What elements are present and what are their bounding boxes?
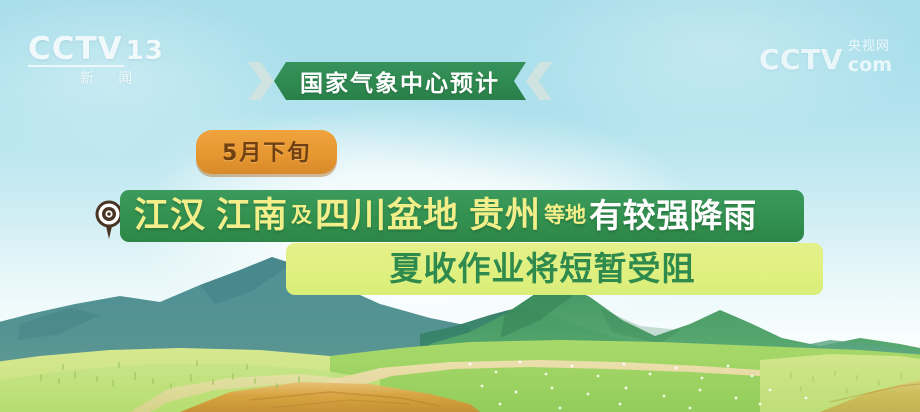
header-banner-title: 国家气象中心预计 <box>300 64 500 98</box>
cctv-logo-brand-row: CCTV13 <box>28 32 188 68</box>
headline-region-b: 江南 <box>216 196 288 236</box>
headline-region-suffix: 等地 <box>541 195 589 235</box>
headline-line2: 夏收作业将短暂受阻 <box>286 243 823 295</box>
cctv-logo-brand: CCTV <box>28 31 123 67</box>
chevron-right-icon <box>248 62 274 100</box>
headline-line2-text: 夏收作业将短暂受阻 <box>390 249 696 289</box>
watermark-com-label: com <box>848 56 892 75</box>
cctv-logo-number: 13 <box>126 36 164 66</box>
cctv-dot-com-watermark: CCTV 央视网 com <box>759 40 892 75</box>
headline-region-c: 四川盆地 <box>315 196 459 236</box>
date-range-badge: 5月下旬 <box>196 130 337 174</box>
watermark-right-group: 央视网 com <box>848 40 892 75</box>
cctv-logo-sublabel: 新 闻 <box>28 68 188 88</box>
headline-region-a: 江汉 <box>134 196 206 236</box>
watermark-brand: CCTV <box>759 45 843 75</box>
headline-connector: 及 <box>288 195 315 235</box>
headline-region-d: 贵州 <box>469 196 541 236</box>
headline-predicate: 有较强降雨 <box>589 196 757 236</box>
headline-line1: 江汉 江南 及 四川盆地 贵州 等地 有较强降雨 <box>120 190 804 242</box>
watermark-chinese-label: 央视网 <box>848 40 892 53</box>
date-range-label: 5月下旬 <box>222 141 311 166</box>
header-banner: 国家气象中心预计 <box>248 62 552 100</box>
chevron-left-icon <box>526 62 552 100</box>
broadcast-frame: CCTV13 新 闻 CCTV 央视网 com 国家气象中心预计 5月下旬 <box>0 0 920 412</box>
cctv-channel-logo: CCTV13 新 闻 <box>28 32 188 90</box>
header-banner-body: 国家气象中心预计 <box>274 62 526 100</box>
